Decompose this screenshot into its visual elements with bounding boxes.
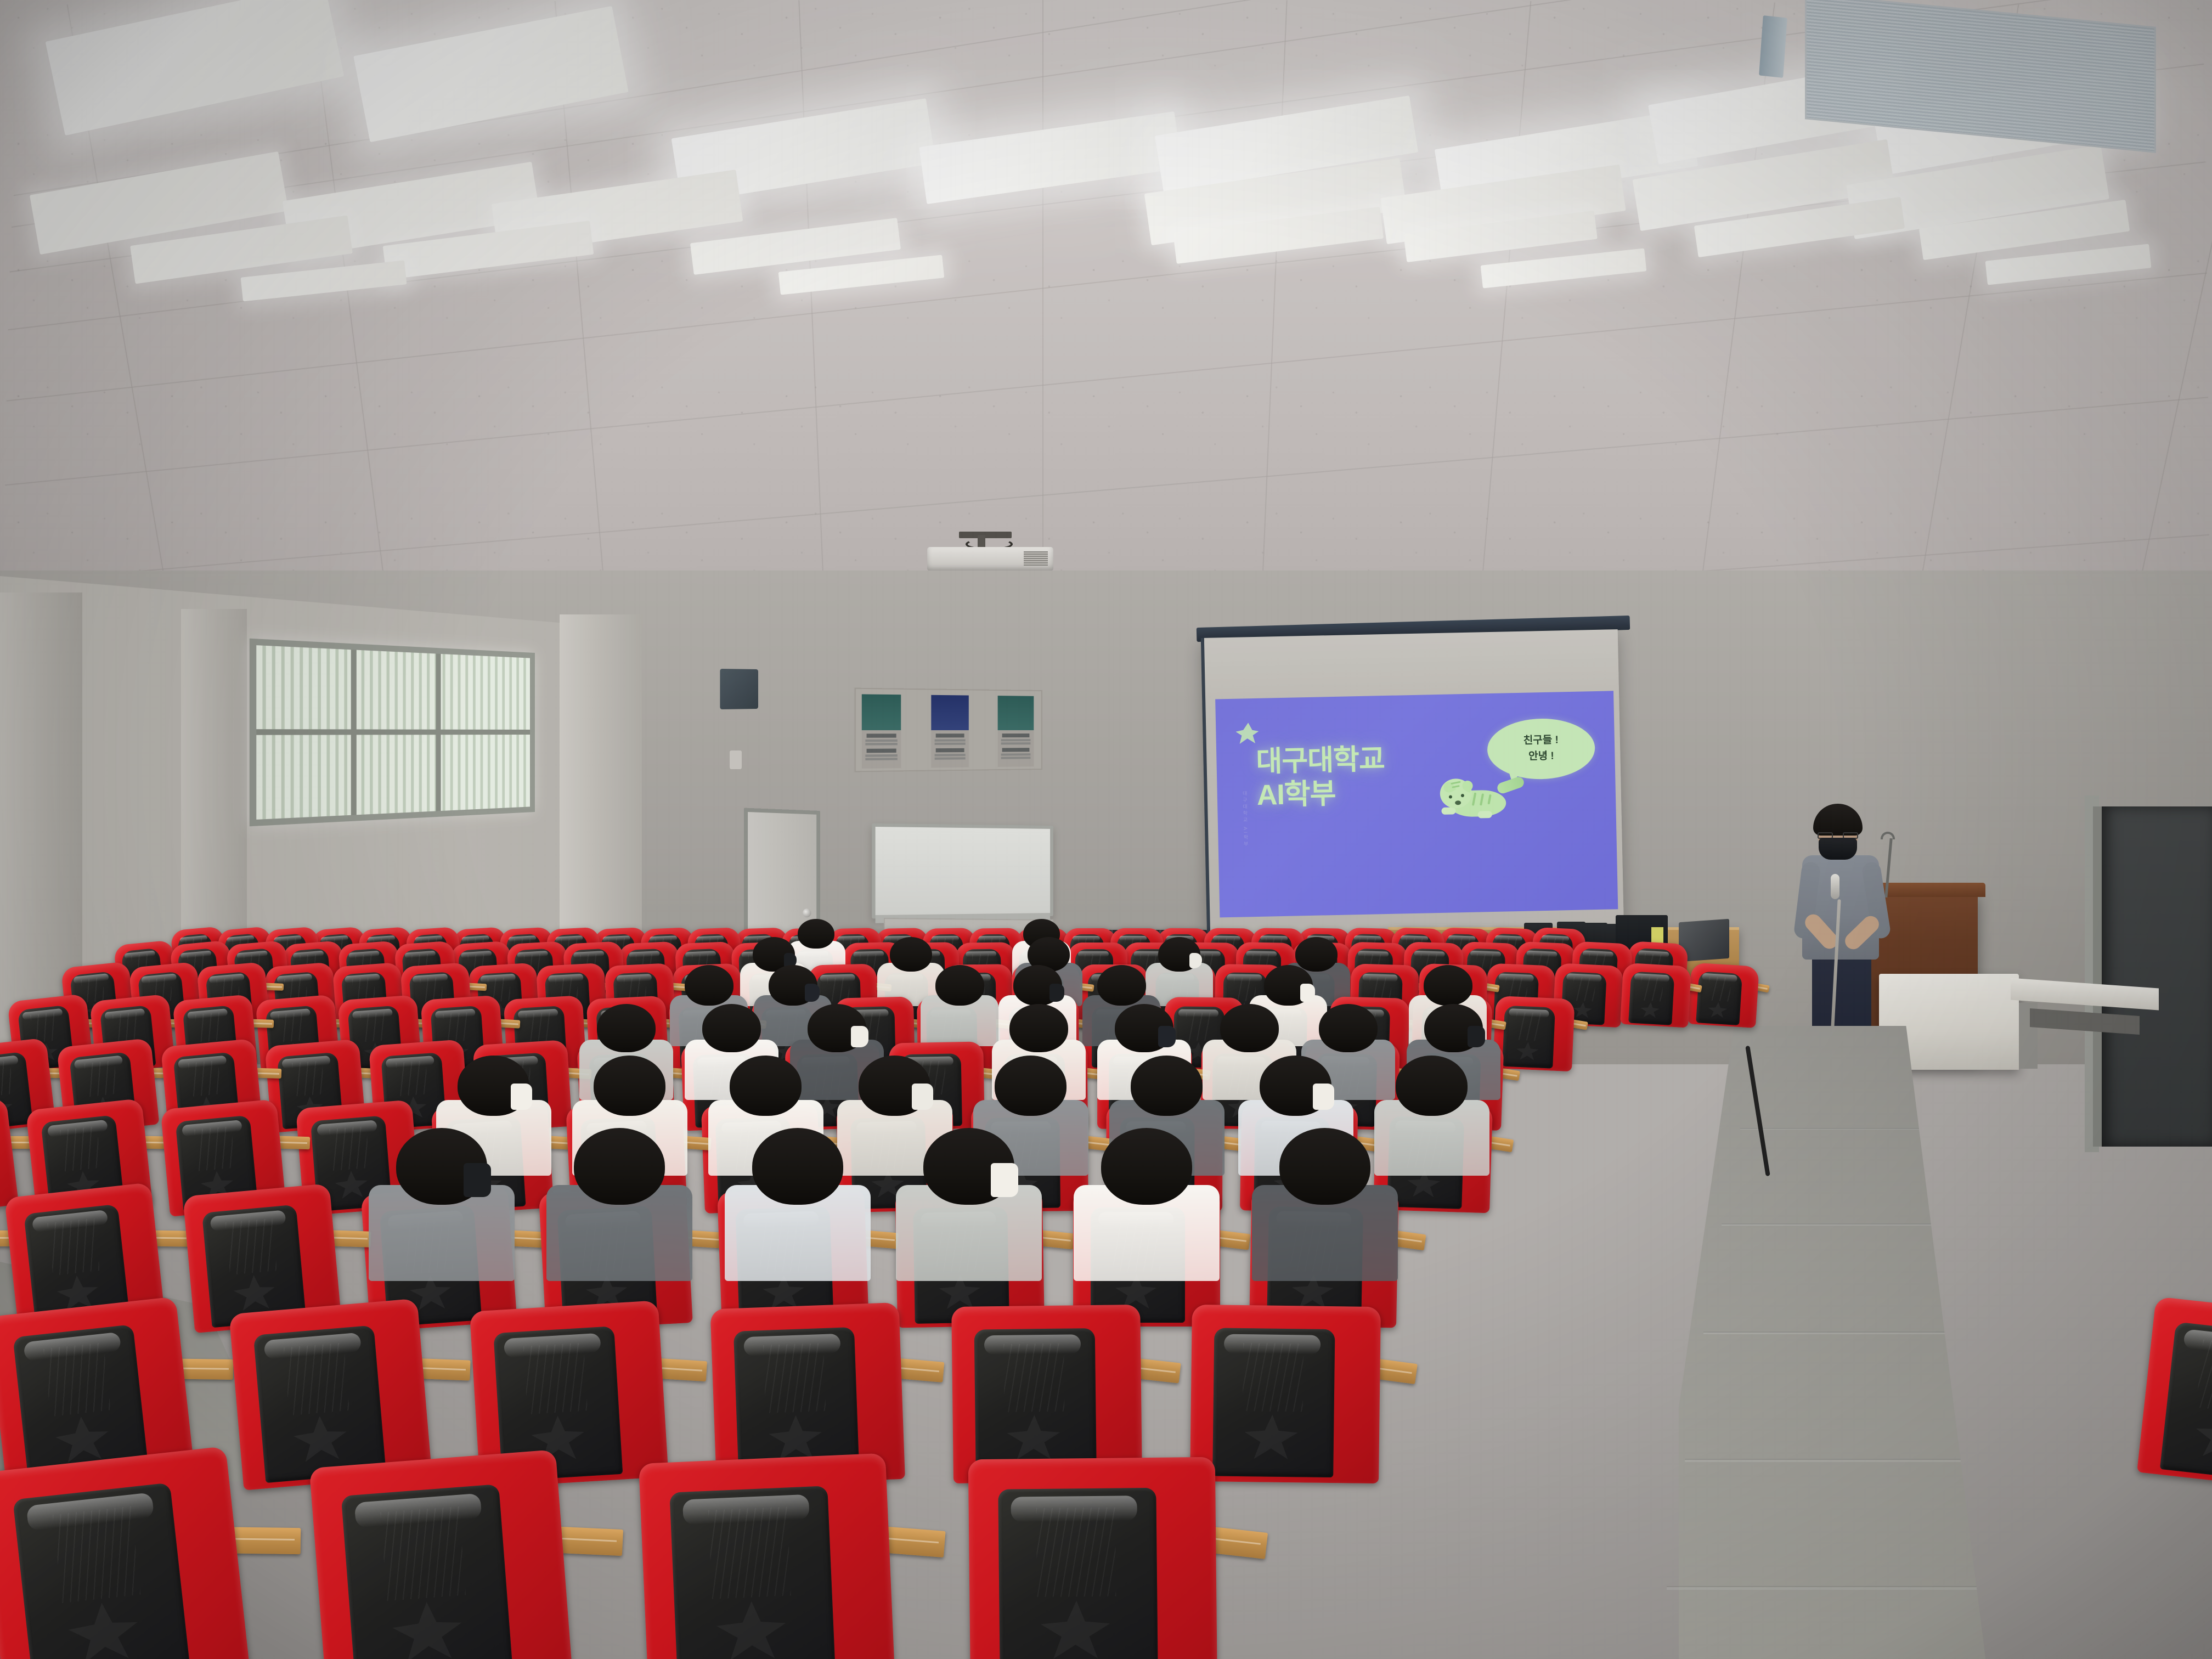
student-head: [798, 919, 834, 949]
audience-member: [923, 1128, 1014, 1289]
handheld-microphone-icon: [1831, 874, 1839, 899]
seat-star-emblem: [715, 1600, 787, 1659]
seat-star-emblem: [391, 1599, 464, 1659]
student-head: [752, 1128, 843, 1205]
poster: [862, 694, 901, 768]
face-mask-icon: [511, 1084, 532, 1110]
student-head: [1101, 1128, 1192, 1205]
face-mask-icon: [991, 1163, 1018, 1197]
slide-title-line-1: 대구대학교: [1256, 743, 1385, 779]
student-head: [685, 965, 733, 1006]
seat-star-emblem: [1640, 1002, 1660, 1018]
student-head: [1396, 1056, 1468, 1116]
student-head: [594, 1056, 665, 1116]
seat-star-emblem: [1244, 1414, 1298, 1459]
seat-star-emblem: [1516, 1041, 1539, 1060]
speech-bubble-text: 친구들 ! 안녕 !: [1487, 732, 1595, 765]
face-mask-icon: [1819, 838, 1857, 860]
presentation-slide: 대구대학교 AI학부 대구대학교 AI학부 친구들 ! 안녕 !: [1215, 691, 1618, 917]
window-with-blinds: [250, 639, 535, 827]
wall-speaker: [720, 669, 758, 709]
face-mask-icon: [1468, 1026, 1485, 1047]
poster: [931, 695, 968, 768]
bubble-line-1: 친구들 !: [1487, 732, 1595, 750]
projection-screen: 대구대학교 AI학부 대구대학교 AI학부 친구들 ! 안녕 !: [1204, 634, 1621, 963]
student-head: [1220, 1004, 1279, 1052]
auditorium-seat[interactable]: [1688, 962, 1759, 1028]
seat-star-emblem: [232, 1273, 276, 1312]
auditorium-seat[interactable]: [1493, 996, 1575, 1071]
audience-member: [859, 1056, 930, 1182]
student-head: [935, 965, 984, 1006]
student-head: [1319, 1004, 1378, 1052]
ceiling-projector: [927, 535, 1053, 571]
audience-member: [808, 1004, 866, 1105]
vent-handle: [1759, 15, 1787, 78]
audience-seating: [0, 933, 2212, 1659]
student-head: [995, 1056, 1066, 1116]
student-head: [1131, 1056, 1203, 1116]
student-head: [702, 1004, 761, 1052]
student-head: [1097, 965, 1146, 1006]
face-mask-icon: [805, 984, 820, 1002]
noticeboard: [855, 688, 1042, 772]
poster: [998, 696, 1034, 767]
auditorium-seat[interactable]: [968, 1457, 1217, 1659]
audience-member: [1396, 1056, 1468, 1182]
wall-fixture: [730, 751, 742, 769]
auditorium-seat[interactable]: [0, 1446, 251, 1659]
face-mask-icon: [1313, 1084, 1334, 1110]
auditorium-seat[interactable]: [1620, 963, 1691, 1028]
auditorium-seat[interactable]: [1190, 1305, 1381, 1483]
audience-member: [935, 965, 984, 1050]
student-head: [574, 1128, 665, 1205]
student-head: [1424, 965, 1472, 1006]
audience-member: [1279, 1128, 1370, 1289]
seat-star-emblem: [1040, 1600, 1110, 1659]
audience-member: [574, 1128, 665, 1289]
seat-star-emblem: [1572, 1002, 1592, 1018]
sparkle-icon: [1235, 723, 1259, 745]
seat-star-emblem: [54, 1414, 111, 1464]
door-knob-icon[interactable]: [803, 909, 811, 917]
student-head: [597, 1004, 656, 1052]
audience-member: [752, 1128, 843, 1289]
student-head: [730, 1056, 802, 1116]
seat-star-emblem: [768, 1414, 823, 1461]
screen-surface: 대구대학교 AI학부 대구대학교 AI학부 친구들 ! 안녕 !: [1201, 629, 1624, 967]
slide-title-line-2: AI학부: [1256, 776, 1385, 812]
whiteboard: [872, 823, 1053, 919]
auditorium-seat[interactable]: [309, 1449, 573, 1659]
seat-star-emblem: [66, 1599, 142, 1659]
auditorium-seat[interactable]: [639, 1453, 895, 1659]
slide-title: 대구대학교 AI학부: [1256, 743, 1386, 813]
audience-member: [1101, 1128, 1192, 1289]
face-mask-icon: [1300, 984, 1315, 1002]
tiger-mascot-icon: [1436, 771, 1520, 825]
auditorium-seat[interactable]: [951, 1305, 1142, 1483]
face-mask-icon: [464, 1163, 491, 1197]
audience-member: [396, 1128, 487, 1289]
bubble-line-2: 안녕 !: [1487, 748, 1595, 766]
student-head: [1279, 1128, 1370, 1205]
face-mask-icon: [1158, 1026, 1176, 1047]
face-mask-icon: [851, 1026, 868, 1047]
seat-star-emblem: [1007, 1414, 1060, 1459]
student-head: [1009, 1004, 1068, 1052]
seat-star-emblem: [2193, 1410, 2212, 1460]
seat-star-emblem: [1707, 1002, 1728, 1018]
face-mask-icon: [912, 1084, 933, 1110]
auditorium-seat[interactable]: [2137, 1296, 2212, 1493]
slide-side-text: 대구대학교 AI학부: [1242, 791, 1250, 848]
lecture-hall-photo: 대구대학교 AI학부 대구대학교 AI학부 친구들 ! 안녕 !: [0, 0, 2212, 1659]
seat-star-emblem: [292, 1414, 348, 1463]
face-mask-icon: [1049, 984, 1064, 1002]
student-head: [890, 937, 932, 972]
